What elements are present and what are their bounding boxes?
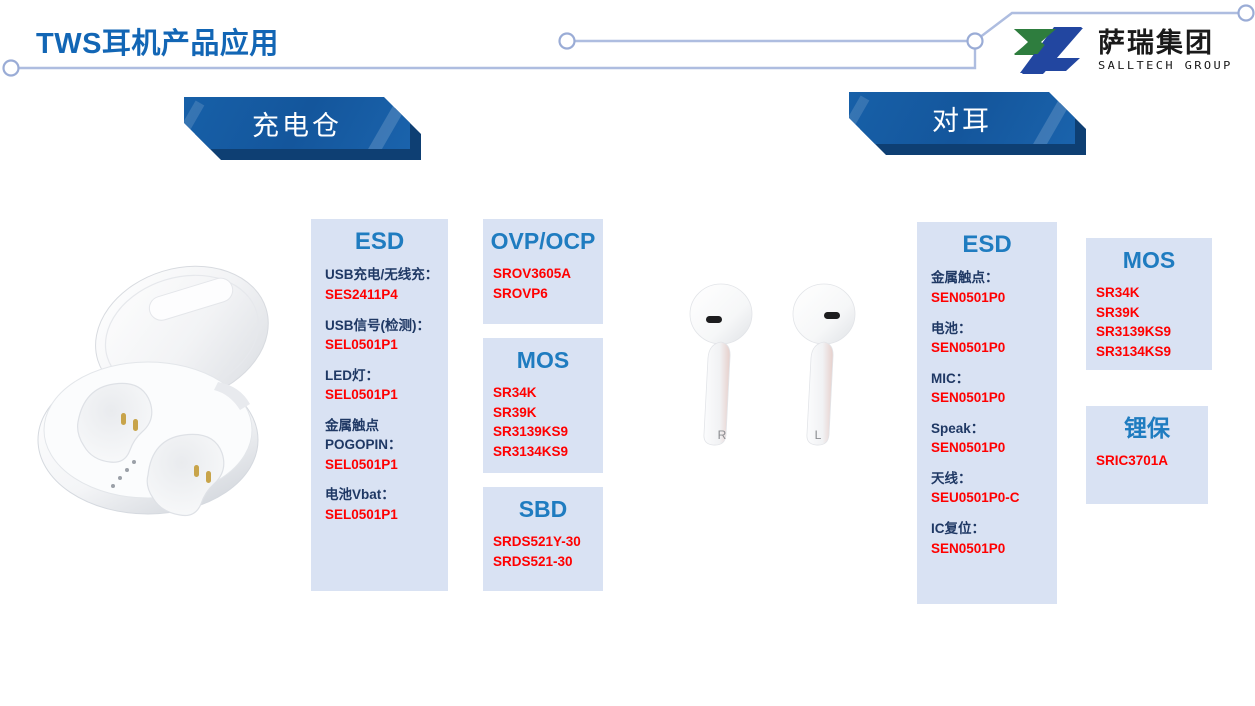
- card-body: SR34K SR39K SR3139KS9 SR3134KS9: [1086, 283, 1212, 361]
- entry-label: USB充电/无线充：: [325, 265, 434, 285]
- entry-part-number: SES2411P4: [325, 285, 434, 305]
- card-body: SR34K SR39K SR3139KS9 SR3134KS9: [483, 383, 603, 461]
- entry-label: 金属触点: [325, 416, 434, 436]
- card-title: MOS: [1086, 248, 1212, 273]
- entry-metal-contact: 金属触点： SEN0501P0: [931, 268, 1043, 307]
- entry-ic-reset: IC复位： SEN0501P0: [931, 519, 1043, 558]
- card-title: MOS: [483, 348, 603, 373]
- entry-part-number: SR39K: [493, 403, 589, 423]
- card-body: SRDS521Y-30 SRDS521-30: [483, 532, 603, 571]
- card-mos-charging-case: MOS SR34K SR39K SR3139KS9 SR3134KS9: [483, 338, 603, 473]
- entry-part-number: SR39K: [1096, 303, 1198, 323]
- card-esd-earbuds: ESD 金属触点： SEN0501P0 电池： SEN0501P0 MIC： S…: [917, 222, 1057, 604]
- entry-battery: 电池： SEN0501P0: [931, 319, 1043, 358]
- card-title: 锂保: [1086, 416, 1208, 441]
- entry-part-number: SEL0501P1: [325, 335, 434, 355]
- logo-name-en: SALLTECH GROUP: [1098, 60, 1233, 71]
- section-banner-charging-case: 充电仓: [184, 97, 410, 149]
- part-list: SRIC3701A: [1096, 451, 1194, 471]
- card-title: OVP/OCP: [483, 229, 603, 254]
- entry-label: USB信号(检测)：: [325, 316, 434, 336]
- entry-part-number: SEN0501P0: [931, 438, 1043, 458]
- entry-part-number: SEN0501P0: [931, 388, 1043, 408]
- part-list: SRDS521Y-30 SRDS521-30: [493, 532, 589, 571]
- entry-part-number: SROVP6: [493, 284, 589, 304]
- banner-face: 充电仓: [184, 97, 410, 149]
- entry-part-number: SR3134KS9: [1096, 342, 1198, 362]
- banner-face: 对耳: [849, 92, 1075, 144]
- entry-label: IC复位：: [931, 519, 1043, 539]
- entry-part-number: SR34K: [1096, 283, 1198, 303]
- entry-label-second: POGOPIN：: [325, 435, 434, 455]
- card-esd-charging-case: ESD USB充电/无线充： SES2411P4 USB信号(检测)： SEL0…: [311, 219, 448, 591]
- entry-part-number: SEN0501P0: [931, 338, 1043, 358]
- logo-name-cn: 萨瑞集团: [1098, 30, 1233, 57]
- deco-circle-right: [1239, 6, 1254, 21]
- part-list: SROV3605A SROVP6: [493, 264, 589, 303]
- entry-pogopin: 金属触点 POGOPIN： SEL0501P1: [325, 416, 434, 475]
- entry-part-number: SEN0501P0: [931, 288, 1043, 308]
- card-ovp-ocp: OVP/OCP SROV3605A SROVP6: [483, 219, 603, 324]
- card-body: USB充电/无线充： SES2411P4 USB信号(检测)： SEL0501P…: [311, 265, 448, 524]
- page-title: TWS耳机产品应用: [36, 20, 279, 62]
- entry-mic: MIC： SEN0501P0: [931, 369, 1043, 408]
- earbud-left-label: L: [815, 428, 822, 442]
- deco-circle-left: [4, 61, 19, 76]
- entry-label: 金属触点：: [931, 268, 1043, 288]
- card-body: 金属触点： SEN0501P0 电池： SEN0501P0 MIC： SEN05…: [917, 268, 1057, 558]
- entry-part-number: SRDS521Y-30: [493, 532, 589, 552]
- entry-part-number: SR3139KS9: [1096, 322, 1198, 342]
- entry-label: 天线：: [931, 469, 1043, 489]
- section-banner-earbuds: 对耳: [849, 92, 1075, 144]
- banner-label: 充电仓: [252, 104, 342, 143]
- entry-part-number: SEL0501P1: [325, 385, 434, 405]
- entry-label: 电池：: [931, 319, 1043, 339]
- card-title: SBD: [483, 497, 603, 522]
- entry-label: 电池Vbat：: [325, 485, 434, 505]
- card-body: SRIC3701A: [1086, 451, 1208, 471]
- card-body: SROV3605A SROVP6: [483, 264, 603, 303]
- entry-part-number: SEL0501P1: [325, 455, 434, 475]
- entry-usb-signal: USB信号(检测)： SEL0501P1: [325, 316, 434, 355]
- entry-part-number: SR3139KS9: [493, 422, 589, 442]
- banner-label: 对耳: [932, 99, 992, 138]
- card-title: ESD: [917, 232, 1057, 258]
- card-title: ESD: [311, 229, 448, 255]
- part-list: SR34K SR39K SR3139KS9 SR3134KS9: [493, 383, 589, 461]
- entry-part-number: SEU0501P0-C: [931, 488, 1043, 508]
- entry-part-number: SR3134KS9: [493, 442, 589, 462]
- earbud-right-label: R: [718, 428, 727, 442]
- card-mos-earbuds: MOS SR34K SR39K SR3139KS9 SR3134KS9: [1086, 238, 1212, 370]
- deco-circle-junction: [968, 34, 983, 49]
- entry-usb-charge: USB充电/无线充： SES2411P4: [325, 265, 434, 304]
- entry-speaker: Speak： SEN0501P0: [931, 419, 1043, 458]
- entry-label: LED灯：: [325, 366, 434, 386]
- salltech-logo-icon: [1010, 25, 1088, 77]
- slide-root: TWS耳机产品应用 萨瑞集团 SALLTECH GROUP 充电仓 对耳: [0, 0, 1255, 706]
- part-list: SR34K SR39K SR3139KS9 SR3134KS9: [1096, 283, 1198, 361]
- deco-circle-middle: [560, 34, 575, 49]
- entry-part-number: SEL0501P1: [325, 505, 434, 525]
- entry-battery-vbat: 电池Vbat： SEL0501P1: [325, 485, 434, 524]
- entry-antenna: 天线： SEU0501P0-C: [931, 469, 1043, 508]
- entry-part-number: SRIC3701A: [1096, 451, 1194, 471]
- card-sbd: SBD SRDS521Y-30 SRDS521-30: [483, 487, 603, 591]
- earbuds-photo: R L: [672, 272, 888, 468]
- entry-label: Speak：: [931, 419, 1043, 439]
- brand-logo: 萨瑞集团 SALLTECH GROUP: [1010, 22, 1245, 80]
- card-lithium-protection: 锂保 SRIC3701A: [1086, 406, 1208, 504]
- entry-part-number: SEN0501P0: [931, 539, 1043, 559]
- entry-part-number: SROV3605A: [493, 264, 589, 284]
- charging-case-photo: [30, 240, 292, 542]
- entry-label: MIC：: [931, 369, 1043, 389]
- entry-led: LED灯： SEL0501P1: [325, 366, 434, 405]
- entry-part-number: SR34K: [493, 383, 589, 403]
- entry-part-number: SRDS521-30: [493, 552, 589, 572]
